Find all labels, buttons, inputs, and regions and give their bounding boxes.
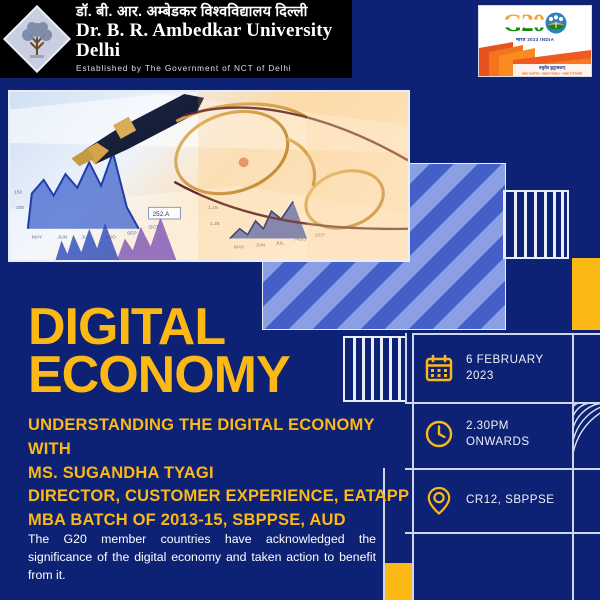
- detail-row-time: 2.30PM ONWARDS: [424, 418, 530, 451]
- grid-line-h2: [405, 402, 600, 404]
- event-description: The G20 member countries have acknowledg…: [28, 530, 376, 584]
- detail-venue-line1: CR12, SBPPSE: [466, 492, 554, 508]
- detail-date-text: 6 FEBRUARY 2023: [466, 352, 544, 385]
- university-established: Established by The Government of NCT of …: [76, 64, 352, 73]
- svg-text:252.A: 252.A: [153, 211, 171, 218]
- arcs-graphic: [572, 403, 600, 469]
- title-line-1: DIGITAL: [28, 303, 290, 351]
- svg-text:MAY: MAY: [32, 235, 43, 241]
- grid-line-v0: [405, 333, 407, 403]
- grid-line-v2: [572, 333, 574, 600]
- tree-emblem-icon: [6, 8, 68, 70]
- detail-time-line2: ONWARDS: [466, 434, 530, 450]
- g20-ribbon-graphic: वसुधैव कुटुम्बकम् ONE EARTH • ONE FAMILY…: [479, 42, 591, 76]
- page-title: DIGITAL ECONOMY: [28, 303, 290, 400]
- university-name-english: Dr. B. R. Ambedkar University Delhi: [76, 21, 352, 61]
- grid-line-v1: [412, 333, 414, 600]
- location-pin-icon: [424, 485, 454, 515]
- emblem-tree-graphic: [14, 16, 60, 62]
- detail-date-line1: 6 FEBRUARY: [466, 352, 544, 368]
- grid-line-h4: [405, 532, 600, 534]
- hero-photo-graphic: MAYJUN JULAGO SEPOCT 100150 252.A MAYJUN…: [10, 92, 408, 260]
- detail-time-text: 2.30PM ONWARDS: [466, 418, 530, 451]
- grid-line-h3: [405, 468, 600, 470]
- svg-text:100: 100: [16, 205, 25, 211]
- subtitle-line-2: WITH: [28, 438, 409, 462]
- detail-row-venue: CR12, SBPPSE: [424, 485, 554, 515]
- yellow-block-bottom: [383, 563, 412, 600]
- university-logo-text: डॉ. बी. आर. अम्बेडकर विश्वविद्यालय दिल्ल…: [76, 5, 352, 73]
- g20-lotus-icon: [545, 12, 567, 34]
- detail-row-date: 6 FEBRUARY 2023: [424, 352, 544, 385]
- speaker-details: UNDERSTANDING THE DIGITAL ECONOMY WITH M…: [28, 414, 409, 533]
- title-line-2: ECONOMY: [28, 351, 290, 399]
- subtitle-line-1: UNDERSTANDING THE DIGITAL ECONOMY: [28, 414, 409, 438]
- university-name-hindi: डॉ. बी. आर. अम्बेडकर विश्वविद्यालय दिल्ल…: [76, 5, 352, 20]
- speaker-name: MS. SUGANDHA TYAGI: [28, 462, 409, 486]
- g20-wordmark-row: G20: [479, 6, 591, 40]
- university-logo-bar: डॉ. बी. आर. अम्बेडकर विश्वविद्यालय दिल्ल…: [0, 0, 352, 78]
- speaker-designation: DIRECTOR, CUSTOMER EXPERIENCE, EATAPP: [28, 485, 409, 509]
- event-poster: MAYJUN JULAGO SEPOCT 100150 252.A MAYJUN…: [0, 0, 600, 600]
- svg-text:150: 150: [14, 190, 23, 196]
- calendar-icon: [424, 353, 454, 383]
- vertical-bars-decoration-top: [503, 190, 569, 259]
- detail-venue-text: CR12, SBPPSE: [466, 492, 554, 508]
- clock-icon: [424, 419, 454, 449]
- yellow-block-right: [572, 258, 600, 330]
- detail-time-line1: 2.30PM: [466, 418, 530, 434]
- svg-text:JUN: JUN: [58, 235, 68, 241]
- hero-photo: MAYJUN JULAGO SEPOCT 100150 252.A MAYJUN…: [8, 90, 410, 262]
- concentric-arcs-decoration: [572, 403, 600, 469]
- svg-text:SEP: SEP: [127, 231, 138, 237]
- vertical-bars-decoration-middle: [343, 336, 407, 402]
- g20-logo: G20 भारत 2023 INDIA: [478, 5, 592, 77]
- g20-wordmark: G20: [503, 11, 544, 36]
- detail-date-line2: 2023: [466, 368, 544, 384]
- svg-text:ONE EARTH • ONE FAMILY • ONE F: ONE EARTH • ONE FAMILY • ONE FUTURE: [522, 71, 583, 75]
